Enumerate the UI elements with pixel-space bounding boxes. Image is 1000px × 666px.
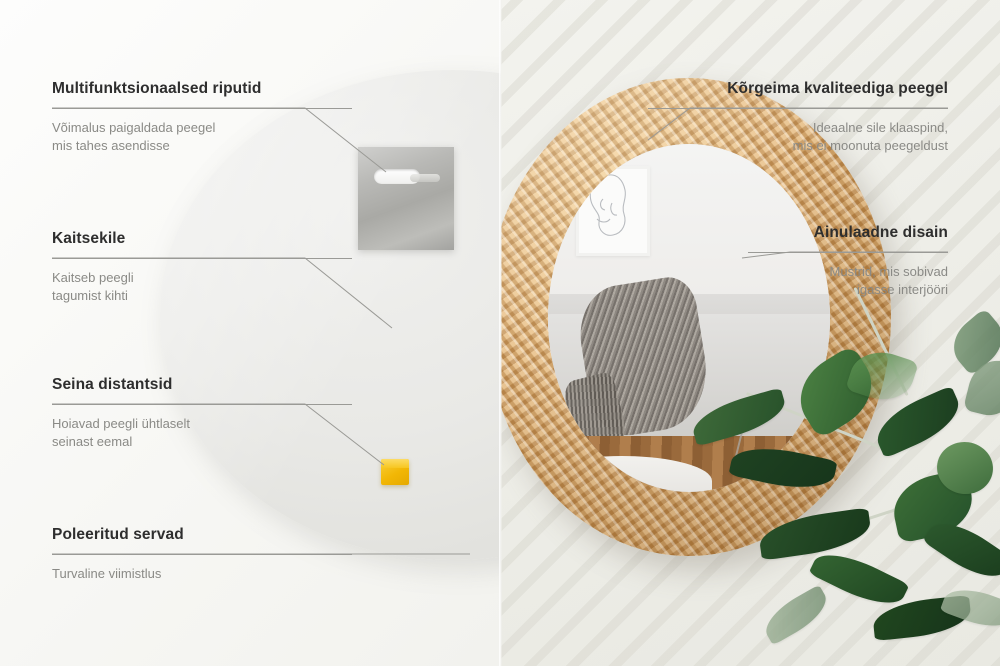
callout-rule — [748, 252, 948, 253]
callout-title: Seina distantsid — [52, 376, 352, 395]
callout-description: Kaitseb peegli tagumist kihti — [52, 269, 352, 306]
callout-unique-design: Ainulaadne disain Mustrid, mis sobivad i… — [748, 224, 948, 300]
callout-description: Turvaline viimistlus — [52, 565, 352, 583]
callout-description: Hoiavad peegli ühtlaselt seinast eemal — [52, 415, 352, 452]
callout-description: Mustrid, mis sobivad igasse interjööri — [748, 263, 948, 300]
callout-title: Kõrgeima kvaliteediga peegel — [648, 80, 948, 99]
callout-polished-edges: Poleeritud servad Turvaline viimistlus — [52, 526, 352, 583]
callout-title: Multifunktsionaalsed riputid — [52, 80, 352, 99]
callout-highest-quality-mirror: Kõrgeima kvaliteediga peegel Ideaalne si… — [648, 80, 948, 156]
yellow-wall-spacer — [381, 459, 409, 485]
callout-rule — [52, 108, 352, 109]
callout-title: Ainulaadne disain — [748, 224, 948, 243]
callout-protective-film: Kaitsekile Kaitseb peegli tagumist kihti — [52, 230, 352, 306]
leaf — [728, 440, 837, 497]
callout-description: Ideaalne sile klaaspind, mis ei moonuta … — [648, 119, 948, 156]
hanger-slot-secondary — [410, 174, 440, 182]
spacer-top-face — [381, 459, 409, 468]
callout-description: Võimalus paigaldada peegel mis tahes ase… — [52, 119, 352, 156]
green-foliage-branch — [701, 300, 1000, 666]
callout-title: Kaitsekile — [52, 230, 352, 249]
leaf — [757, 507, 873, 560]
callout-rule — [52, 404, 352, 405]
infographic-canvas: Multifunktsionaalsed riputid Võimalus pa… — [0, 0, 1000, 666]
line-art-face-poster-icon — [576, 166, 650, 256]
panel-divider — [499, 0, 502, 666]
callout-title: Poleeritud servad — [52, 526, 352, 545]
callout-wall-spacers: Seina distantsid Hoiavad peegli ühtlasel… — [52, 376, 352, 452]
metal-hanger-plate — [358, 147, 454, 250]
leaf — [688, 387, 790, 446]
callout-rule — [648, 108, 948, 109]
callout-multifunctional-hangers: Multifunktsionaalsed riputid Võimalus pa… — [52, 80, 352, 156]
callout-rule — [52, 554, 352, 555]
callout-rule — [52, 258, 352, 259]
leaf — [758, 585, 834, 646]
